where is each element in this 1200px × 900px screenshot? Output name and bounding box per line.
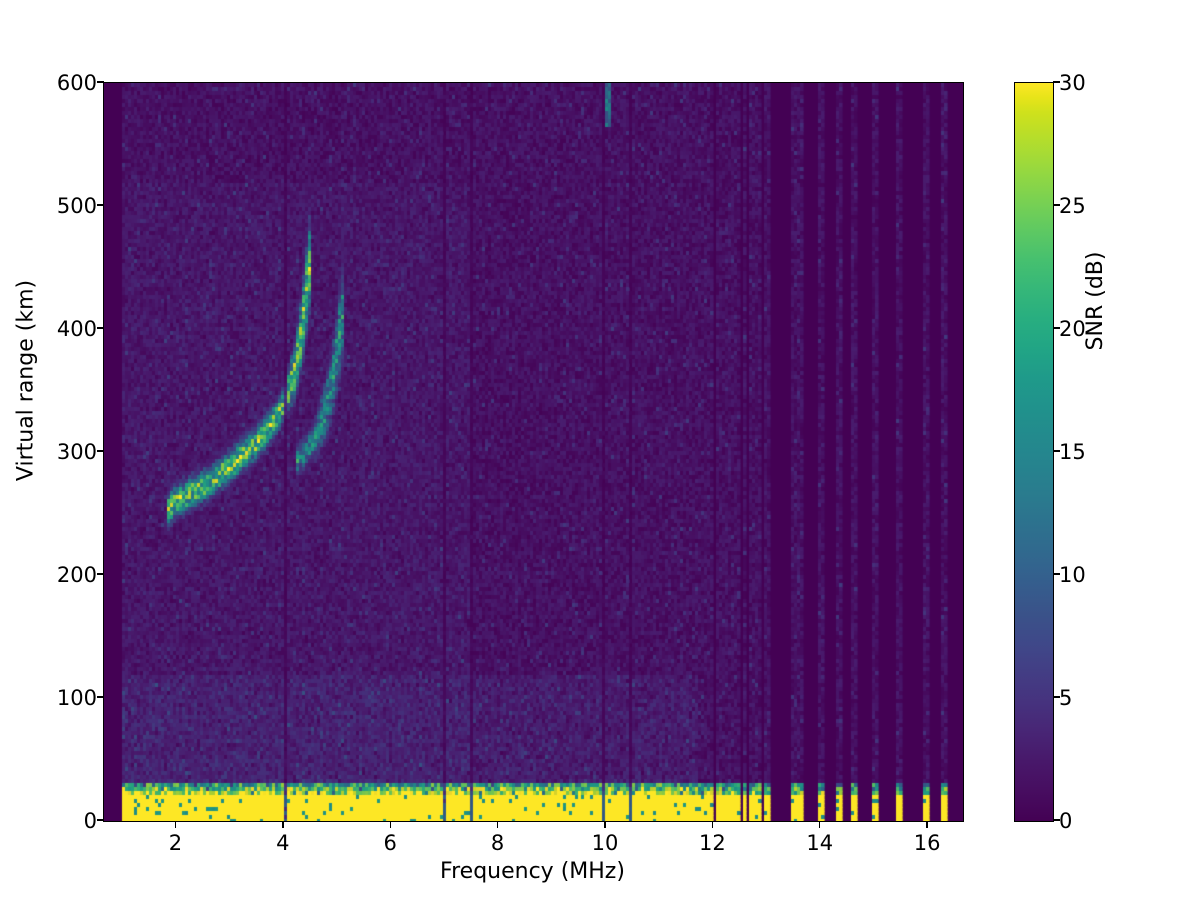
y-tick-mark	[97, 696, 104, 697]
x-tick-mark	[282, 821, 283, 828]
x-tick-mark	[175, 821, 176, 828]
x-tick-label: 4	[248, 831, 318, 855]
x-tick-label: 10	[570, 831, 640, 855]
x-tick-mark	[390, 821, 391, 828]
y-tick-mark	[97, 204, 104, 205]
y-tick-label: 200	[39, 563, 97, 587]
x-axis-label: Frequency (MHz)	[103, 859, 962, 884]
x-tick-mark	[604, 821, 605, 828]
colorbar-tick-label: 10	[1059, 563, 1119, 587]
ionogram-plot-area[interactable]	[103, 82, 964, 822]
x-tick-mark	[712, 821, 713, 828]
x-tick-label: 6	[355, 831, 425, 855]
y-tick-label: 600	[39, 71, 97, 95]
y-tick-label: 300	[39, 440, 97, 464]
y-axis: 0100200300400500600	[37, 82, 97, 820]
x-tick-label: 14	[785, 831, 855, 855]
x-tick-label: 2	[140, 831, 210, 855]
x-tick-mark	[819, 821, 820, 828]
y-axis-label: Virtual range (km)	[14, 101, 39, 661]
y-tick-mark	[97, 450, 104, 451]
y-tick-label: 0	[39, 809, 97, 833]
y-tick-label: 400	[39, 317, 97, 341]
colorbar-tick-label: 5	[1059, 686, 1119, 710]
y-tick-mark	[97, 327, 104, 328]
y-tick-label: 500	[39, 194, 97, 218]
colorbar-label: SNR (dB)	[1083, 151, 1108, 451]
x-axis: Frequency (MHz) 246810121416	[103, 821, 962, 881]
colorbar-tick-label: 0	[1059, 809, 1119, 833]
x-tick-label: 16	[892, 831, 962, 855]
ionogram-figure: IRF Kiruna Ionosonde KI167 2026-03-18 20…	[0, 0, 1200, 900]
x-tick-label: 8	[463, 831, 533, 855]
x-tick-mark	[497, 821, 498, 828]
y-tick-mark	[97, 81, 104, 82]
y-tick-mark	[97, 573, 104, 574]
colorbar-tick-label: 30	[1059, 71, 1119, 95]
x-tick-mark	[926, 821, 927, 828]
y-tick-label: 100	[39, 686, 97, 710]
x-tick-label: 12	[677, 831, 747, 855]
